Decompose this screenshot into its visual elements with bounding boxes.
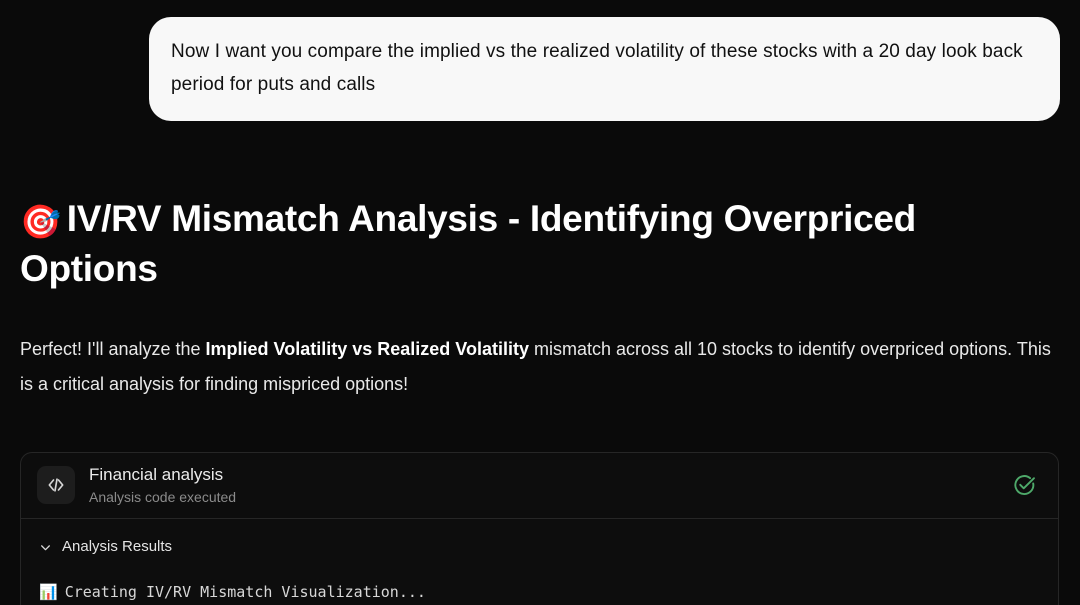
intro-paragraph: Perfect! I'll analyze the Implied Volati… bbox=[20, 332, 1055, 402]
user-message-bubble: Now I want you compare the implied vs th… bbox=[149, 17, 1060, 121]
circle-check-icon bbox=[1012, 473, 1036, 497]
tool-card-titles: Financial analysis Analysis code execute… bbox=[89, 464, 1012, 507]
analysis-results-label: Analysis Results bbox=[62, 537, 172, 557]
tool-card-header[interactable]: Financial analysis Analysis code execute… bbox=[21, 453, 1058, 519]
analysis-results-output: 📊Creating IV/RV Mismatch Visualization..… bbox=[39, 581, 1042, 603]
dart-target-icon: 🎯 bbox=[20, 203, 61, 240]
intro-text-part1: Perfect! I'll analyze the bbox=[20, 339, 206, 359]
analysis-results-output-line: Creating IV/RV Mismatch Visualization... bbox=[65, 581, 426, 603]
analysis-results-toggle[interactable]: Analysis Results bbox=[39, 537, 1042, 557]
tool-card-subtitle: Analysis code executed bbox=[89, 487, 1012, 507]
chat-page: Now I want you compare the implied vs th… bbox=[0, 0, 1080, 605]
page-title: 🎯IV/RV Mismatch Analysis - Identifying O… bbox=[20, 194, 1050, 294]
tool-card-title: Financial analysis bbox=[89, 464, 1012, 486]
intro-text-emphasis: Implied Volatility vs Realized Volatilit… bbox=[206, 339, 529, 359]
chevron-down-icon bbox=[39, 541, 52, 554]
user-message-text: Now I want you compare the implied vs th… bbox=[171, 35, 1038, 101]
bar-chart-icon: 📊 bbox=[39, 585, 58, 600]
code-icon bbox=[37, 466, 75, 504]
analysis-results-section: Analysis Results 📊Creating IV/RV Mismatc… bbox=[21, 519, 1058, 603]
status-badge bbox=[1012, 473, 1036, 497]
tool-result-card: Financial analysis Analysis code execute… bbox=[20, 452, 1059, 605]
page-title-text: IV/RV Mismatch Analysis - Identifying Ov… bbox=[20, 198, 916, 289]
